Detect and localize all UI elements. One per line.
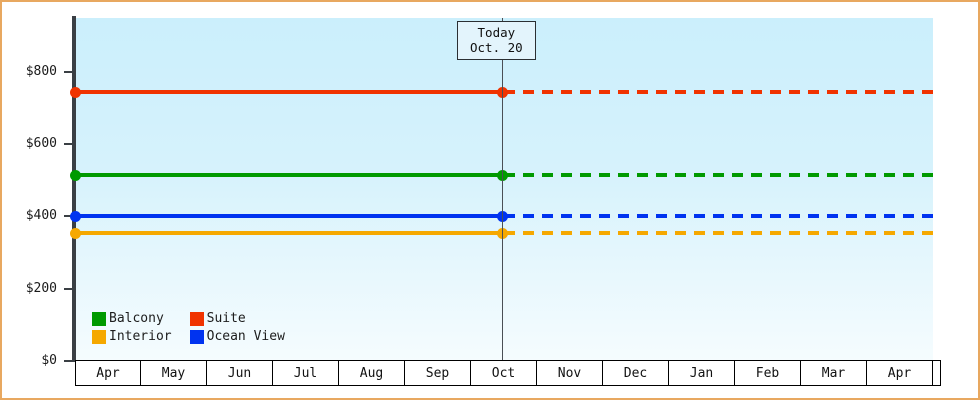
legend-item-ocean-view[interactable]: Ocean View [190, 330, 285, 344]
series-line-interior-actual [76, 231, 504, 235]
y-axis-spine [72, 16, 76, 362]
y-axis-label-600: $600 [26, 137, 57, 150]
legend-item-suite[interactable]: Suite [190, 312, 285, 326]
series-line-ocean-view-actual [76, 214, 504, 218]
x-axis-month-dec[interactable]: Dec [603, 361, 669, 385]
legend-item-interior[interactable]: Interior [92, 330, 172, 344]
x-axis-month-sep[interactable]: Sep [405, 361, 471, 385]
today-vertical-line [502, 18, 503, 360]
legend-label-suite: Suite [207, 312, 246, 326]
legend-swatch-interior-icon [92, 330, 106, 344]
legend-label-ocean-view: Ocean View [207, 330, 285, 344]
series-line-ocean-view-forecast [504, 214, 933, 218]
x-axis-month-jun[interactable]: Jun [207, 361, 273, 385]
x-axis-month-apr-1[interactable]: Apr [75, 361, 141, 385]
x-axis-month-partial [933, 361, 941, 385]
legend-swatch-balcony-icon [92, 312, 106, 326]
legend: Balcony Suite Interior Ocean View [92, 312, 285, 344]
series-line-balcony-forecast [504, 173, 933, 177]
legend-label-balcony: Balcony [109, 312, 164, 326]
series-marker-interior-start [70, 228, 81, 239]
series-line-balcony-actual [76, 173, 504, 177]
x-axis-month-strip: Apr May Jun Jul Aug Sep Oct Nov Dec Jan … [75, 360, 941, 386]
y-axis-label-0: $0 [41, 354, 57, 367]
chart-frame: $800 $600 $400 $200 $0 Today Oct. 20 Bal… [0, 0, 980, 400]
legend-item-balcony[interactable]: Balcony [92, 312, 172, 326]
x-axis-month-nov[interactable]: Nov [537, 361, 603, 385]
today-label-line1: Today [470, 25, 523, 40]
x-axis-month-apr-2[interactable]: Apr [867, 361, 933, 385]
series-marker-suite-start [70, 87, 81, 98]
legend-swatch-suite-icon [190, 312, 204, 326]
plot-area [76, 18, 933, 360]
y-tick-0 [64, 360, 75, 362]
y-tick-600 [64, 143, 75, 145]
y-axis-label-200: $200 [26, 282, 57, 295]
today-label-line2: Oct. 20 [470, 40, 523, 55]
y-tick-800 [64, 71, 75, 73]
x-axis-month-may[interactable]: May [141, 361, 207, 385]
x-axis-month-feb[interactable]: Feb [735, 361, 801, 385]
x-axis-month-mar[interactable]: Mar [801, 361, 867, 385]
series-marker-balcony-start [70, 170, 81, 181]
y-axis-label-800: $800 [26, 65, 57, 78]
x-axis-month-oct[interactable]: Oct [471, 361, 537, 385]
legend-label-interior: Interior [109, 330, 172, 344]
today-annotation-box: Today Oct. 20 [457, 21, 536, 60]
series-line-suite-actual [76, 90, 504, 94]
series-marker-ocean-view-start [70, 211, 81, 222]
x-axis-month-jan[interactable]: Jan [669, 361, 735, 385]
x-axis-month-aug[interactable]: Aug [339, 361, 405, 385]
y-axis-label-400: $400 [26, 209, 57, 222]
series-line-interior-forecast [504, 231, 933, 235]
series-line-suite-forecast [504, 90, 933, 94]
x-axis-month-jul[interactable]: Jul [273, 361, 339, 385]
legend-swatch-ocean-view-icon [190, 330, 204, 344]
y-tick-200 [64, 288, 75, 290]
